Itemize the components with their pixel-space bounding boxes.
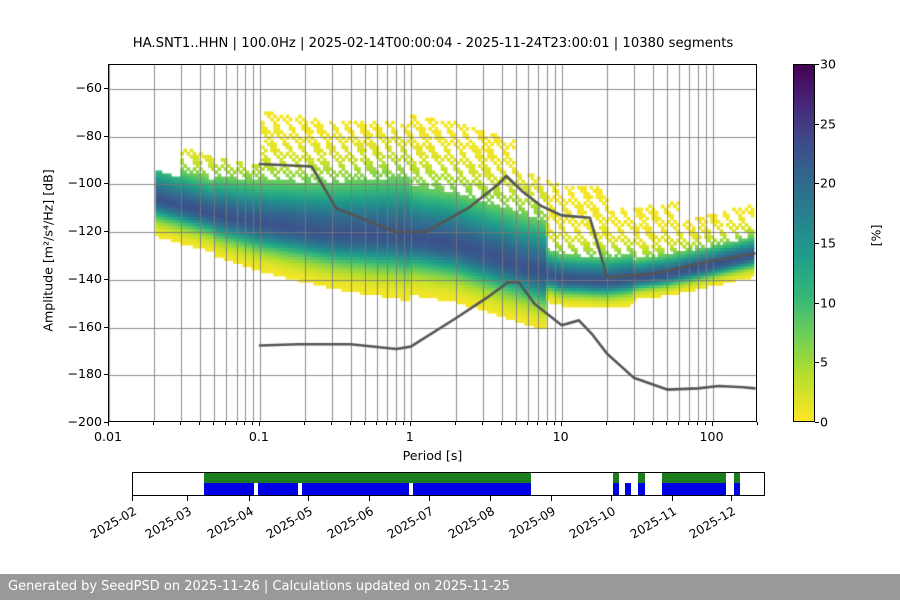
x-tick-mark — [705, 422, 706, 425]
colorbar — [793, 64, 815, 422]
colorbar-tick-mark — [815, 362, 819, 363]
date-tick-label: 2025-08 — [433, 504, 497, 549]
availability-segment-blue — [258, 483, 298, 495]
x-tick-mark — [304, 422, 305, 425]
y-tick-label: −120 — [62, 223, 102, 238]
y-axis-label-wrap: Amplitude [m²/s⁴/Hz] [dB] — [30, 63, 50, 423]
y-tick-mark — [104, 183, 108, 184]
availability-segment-blue — [734, 483, 740, 495]
x-tick-mark — [666, 422, 667, 425]
x-tick-mark — [199, 422, 200, 425]
footer-text: Generated by SeedPSD on 2025-11-26 | Cal… — [8, 579, 510, 594]
x-tick-label: 0.1 — [249, 429, 269, 444]
date-tick-mark — [187, 496, 188, 501]
colorbar-tick-mark — [815, 303, 819, 304]
x-tick-mark — [180, 422, 181, 425]
psd-figure: HA.SNT1..HHN | 100.0Hz | 2025-02-14T00:0… — [0, 0, 900, 600]
date-tick-mark — [308, 496, 309, 501]
date-tick-label: 2025-04 — [192, 504, 256, 549]
x-tick-mark — [757, 422, 758, 425]
x-tick-mark — [527, 422, 528, 425]
x-tick-mark — [561, 422, 562, 426]
date-tick-label: 2025-12 — [674, 504, 738, 549]
availability-segment-green — [204, 473, 530, 483]
x-tick-mark — [244, 422, 245, 425]
date-tick-mark — [731, 496, 732, 501]
x-tick-mark — [331, 422, 332, 425]
psd-heatmap-canvas — [109, 65, 757, 422]
date-tick-mark — [369, 496, 370, 501]
colorbar-tick-label: 5 — [820, 355, 828, 370]
colorbar-tick-mark — [815, 124, 819, 125]
y-tick-mark — [104, 136, 108, 137]
availability-segment-blue — [625, 483, 631, 495]
y-tick-label: −80 — [62, 128, 102, 143]
x-tick-label: 10 — [553, 429, 569, 444]
x-tick-mark — [410, 422, 411, 426]
x-tick-mark — [515, 422, 516, 425]
availability-segment-green — [613, 473, 619, 483]
date-tick-label: 2025-11 — [615, 504, 679, 549]
date-tick-label: 2025-03 — [130, 504, 194, 549]
date-tick-label: 2025-09 — [494, 504, 558, 549]
x-tick-mark — [350, 422, 351, 425]
availability-segment-blue — [413, 483, 530, 495]
x-tick-mark — [652, 422, 653, 425]
date-tick-label: 2025-02 — [75, 504, 139, 549]
date-tick-mark — [551, 496, 552, 501]
x-tick-mark — [697, 422, 698, 425]
colorbar-tick-label: 20 — [820, 176, 836, 191]
y-axis-label: Amplitude [m²/s⁴/Hz] [dB] — [41, 91, 56, 411]
colorbar-tick-label: 25 — [820, 116, 836, 131]
date-tick-mark — [132, 496, 133, 501]
x-tick-mark — [213, 422, 214, 425]
x-tick-mark — [364, 422, 365, 425]
colorbar-label: [%] — [869, 206, 884, 266]
availability-segment-green — [638, 473, 646, 483]
date-tick-mark — [611, 496, 612, 501]
x-tick-mark — [403, 422, 404, 425]
y-tick-mark — [104, 327, 108, 328]
x-tick-mark — [633, 422, 634, 425]
x-tick-mark — [501, 422, 502, 425]
x-tick-mark — [395, 422, 396, 425]
availability-segment-blue — [204, 483, 254, 495]
colorbar-tick-label: 0 — [820, 415, 828, 430]
x-tick-mark — [688, 422, 689, 425]
date-tick-label: 2025-05 — [251, 504, 315, 549]
x-tick-label: 0.01 — [94, 429, 122, 444]
x-tick-mark — [259, 422, 260, 426]
availability-segment-blue — [302, 483, 409, 495]
availability-segment-blue — [613, 483, 619, 495]
date-tick-label: 2025-07 — [372, 504, 436, 549]
x-tick-mark — [482, 422, 483, 425]
x-tick-mark — [546, 422, 547, 425]
y-tick-label: −140 — [62, 271, 102, 286]
y-tick-label: −180 — [62, 366, 102, 381]
colorbar-tick-label: 15 — [820, 236, 836, 251]
y-tick-mark — [104, 88, 108, 89]
x-tick-mark — [252, 422, 253, 425]
x-tick-mark — [554, 422, 555, 425]
availability-segment-blue — [638, 483, 646, 495]
psd-plot-area — [108, 64, 757, 422]
colorbar-tick-mark — [815, 64, 819, 65]
y-tick-mark — [104, 374, 108, 375]
colorbar-tick-label: 30 — [820, 57, 836, 72]
y-tick-mark — [104, 279, 108, 280]
x-tick-mark — [153, 422, 154, 425]
page-title: HA.SNT1..HHN | 100.0Hz | 2025-02-14T00:0… — [108, 36, 758, 51]
x-tick-label: 1 — [406, 429, 414, 444]
availability-segment-blue — [662, 483, 726, 495]
colorbar-tick-label: 10 — [820, 295, 836, 310]
y-tick-label: −60 — [62, 80, 102, 95]
x-tick-mark — [225, 422, 226, 425]
x-tick-mark — [455, 422, 456, 425]
date-tick-mark — [490, 496, 491, 501]
colorbar-tick-mark — [815, 422, 819, 423]
x-tick-mark — [678, 422, 679, 425]
date-tick-mark — [672, 496, 673, 501]
colorbar-tick-mark — [815, 183, 819, 184]
colorbar-tick-mark — [815, 243, 819, 244]
x-tick-mark — [712, 422, 713, 426]
x-tick-mark — [606, 422, 607, 425]
y-tick-mark — [104, 231, 108, 232]
date-tick-mark — [249, 496, 250, 501]
data-availability-bar — [132, 472, 765, 496]
y-tick-label: −200 — [62, 414, 102, 429]
x-axis-label: Period [s] — [108, 448, 757, 463]
x-tick-label: 100 — [700, 429, 724, 444]
date-tick-label: 2025-06 — [312, 504, 376, 549]
x-tick-mark — [386, 422, 387, 425]
y-tick-label: −160 — [62, 319, 102, 334]
availability-segment-green — [662, 473, 726, 483]
date-tick-mark — [429, 496, 430, 501]
x-tick-mark — [108, 422, 109, 426]
x-tick-mark — [537, 422, 538, 425]
x-tick-mark — [376, 422, 377, 425]
x-tick-mark — [236, 422, 237, 425]
y-tick-label: −100 — [62, 175, 102, 190]
availability-segment-green — [734, 473, 740, 483]
date-tick-label: 2025-10 — [554, 504, 618, 549]
